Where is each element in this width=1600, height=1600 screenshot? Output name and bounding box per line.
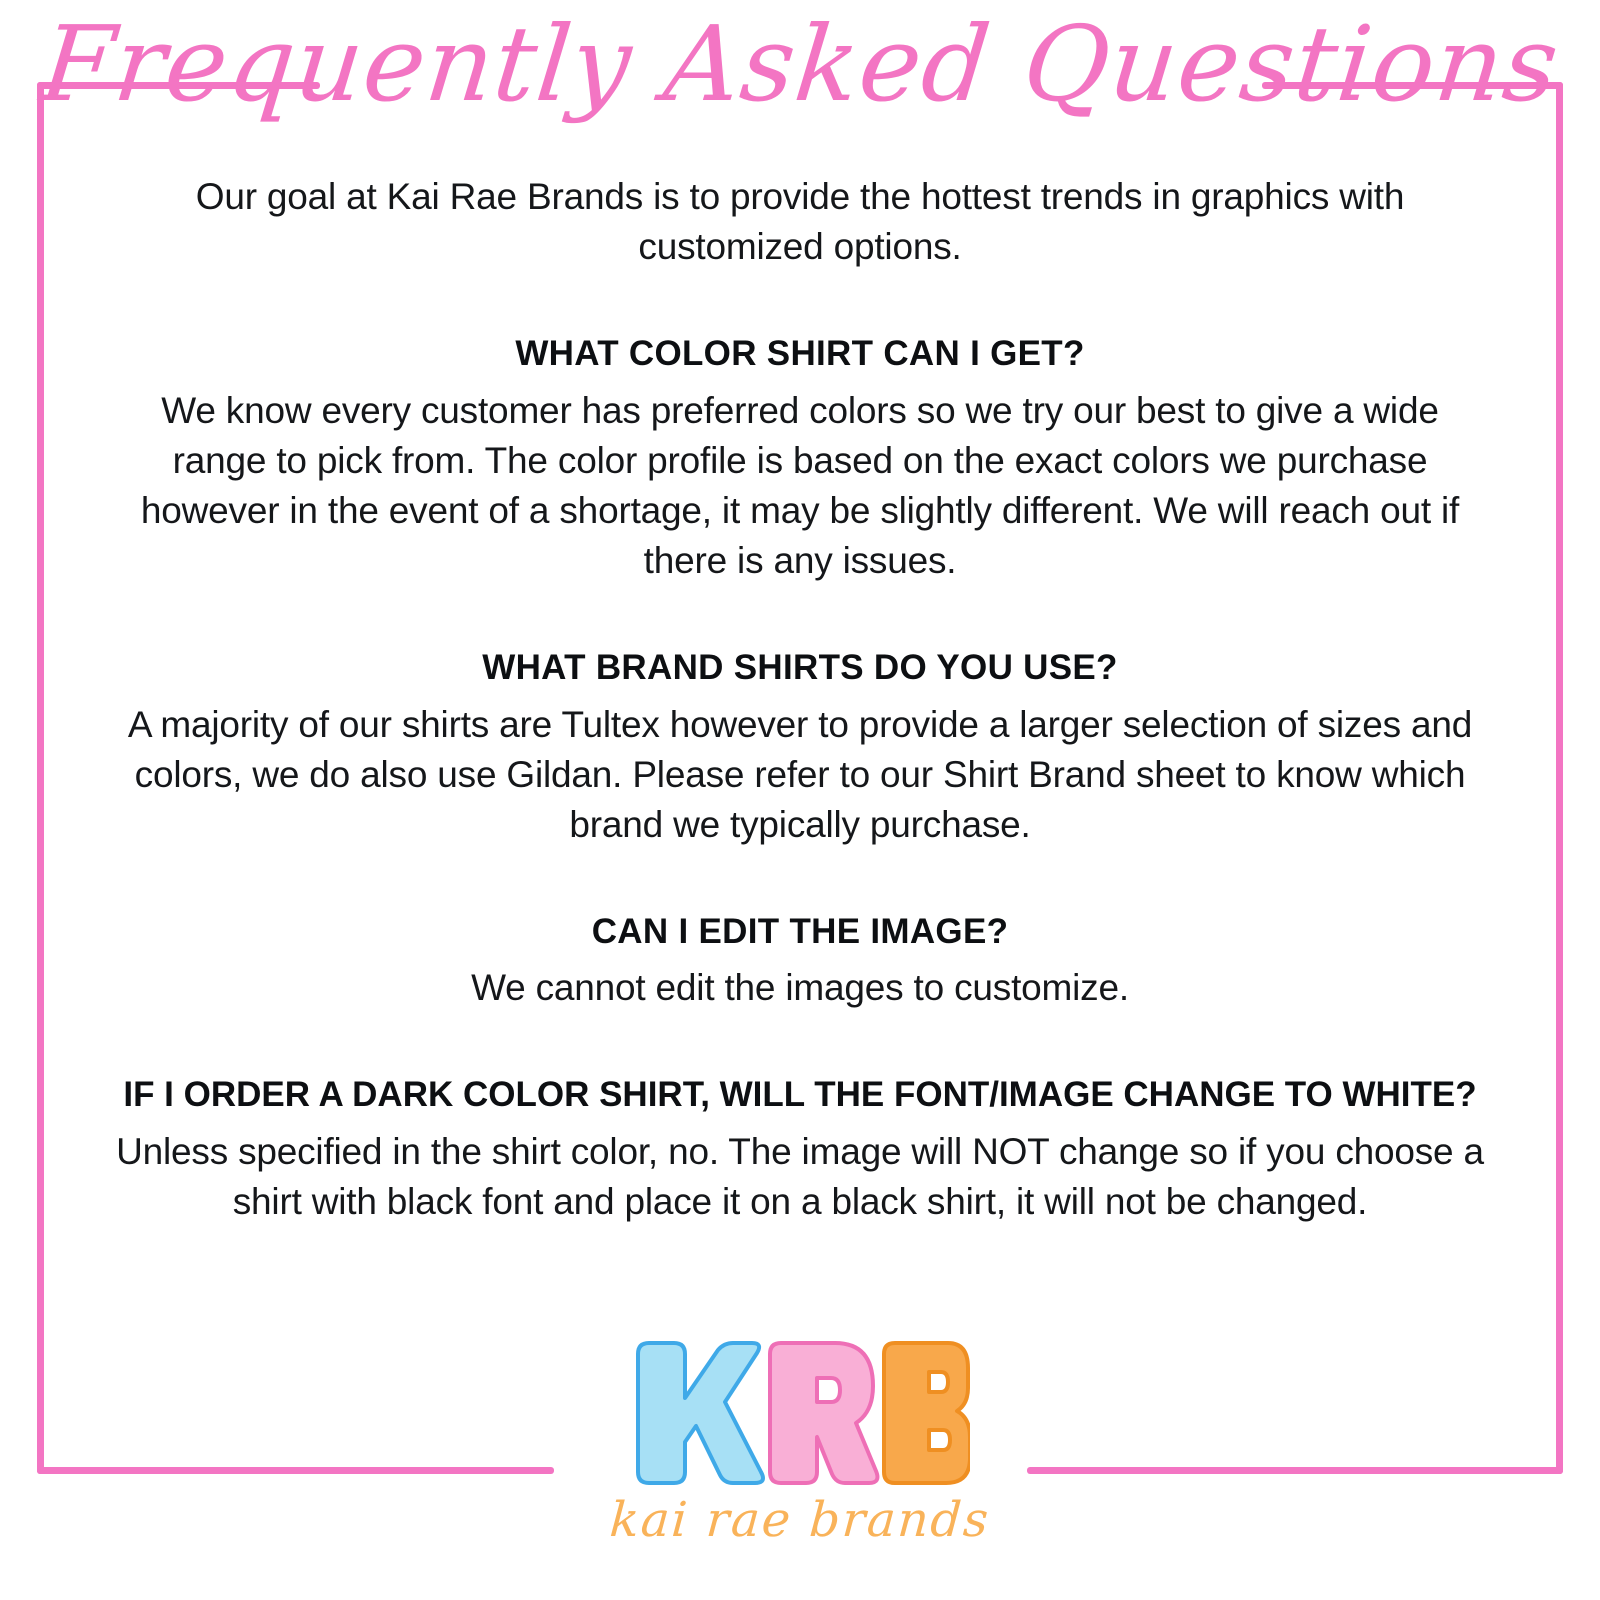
faq-question: WHAT COLOR SHIRT CAN I GET? <box>110 331 1490 378</box>
faq-item: WHAT BRAND SHIRTS DO YOU USE? A majority… <box>110 645 1490 851</box>
brand-logo: kai rae brands <box>0 1338 1600 1548</box>
faq-question: WHAT BRAND SHIRTS DO YOU USE? <box>110 645 1490 692</box>
page-title: Frequently Asked Questions <box>36 10 1564 119</box>
logo-tagline: kai rae brands <box>0 1492 1600 1548</box>
logo-letter-r <box>770 1343 877 1483</box>
faq-question: IF I ORDER A DARK COLOR SHIRT, WILL THE … <box>110 1072 1490 1119</box>
frame-left-segment <box>37 82 44 1474</box>
faq-item: IF I ORDER A DARK COLOR SHIRT, WILL THE … <box>110 1072 1490 1228</box>
logo-letter-b <box>884 1343 970 1483</box>
faq-content: Our goal at Kai Rae Brands is to provide… <box>110 172 1490 1227</box>
faq-answer: We know every customer has preferred col… <box>110 386 1490 587</box>
title-block: Frequently Asked Questions <box>0 10 1600 119</box>
faq-question: CAN I EDIT THE IMAGE? <box>110 909 1490 956</box>
intro-paragraph: Our goal at Kai Rae Brands is to provide… <box>110 172 1490 273</box>
faq-answer: Unless specified in the shirt color, no.… <box>110 1127 1490 1228</box>
faq-answer: A majority of our shirts are Tultex howe… <box>110 700 1490 851</box>
logo-letter-k <box>638 1343 763 1483</box>
faq-answer: We cannot edit the images to customize. <box>110 963 1490 1013</box>
faq-item: WHAT COLOR SHIRT CAN I GET? We know ever… <box>110 331 1490 587</box>
krb-logo-icon <box>630 1338 970 1498</box>
faq-item: CAN I EDIT THE IMAGE? We cannot edit the… <box>110 909 1490 1014</box>
frame-right-segment <box>1556 82 1563 1474</box>
